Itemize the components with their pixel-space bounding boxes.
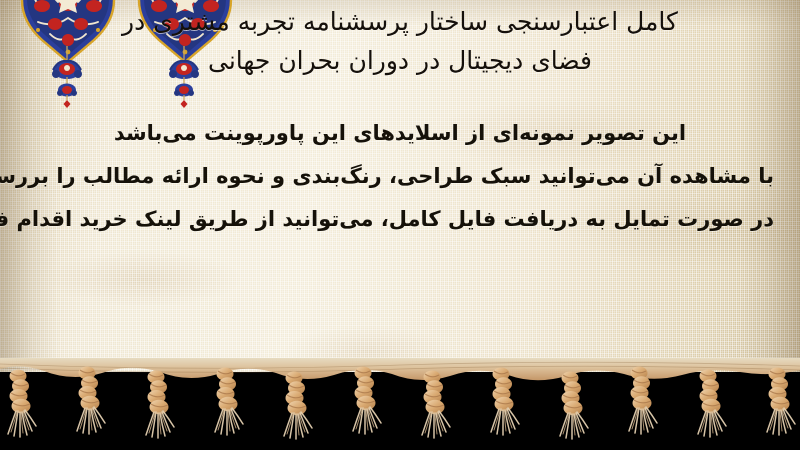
tassel-fringe — [0, 358, 800, 450]
body-line-3: در صورت تمایل به دریافت فایل کامل، می‌تو… — [26, 198, 774, 241]
slide-canvas: کامل اعتبارسنجی ساختار پرسشنامه تجربه مش… — [0, 0, 800, 450]
body-line-2: با مشاهده آن می‌توانید سبک طراحی، رنگ‌بن… — [26, 155, 774, 198]
title-line-2: فضای دیجیتال در دوران بحران جهانی — [24, 41, 776, 80]
slide-body: این تصویر نمونه‌ای از اسلایدهای این پاور… — [26, 112, 774, 241]
title-line-1: کامل اعتبارسنجی ساختار پرسشنامه تجربه مش… — [24, 2, 776, 41]
slide-title: کامل اعتبارسنجی ساختار پرسشنامه تجربه مش… — [24, 2, 776, 80]
body-line-1: این تصویر نمونه‌ای از اسلایدهای این پاور… — [26, 112, 774, 155]
